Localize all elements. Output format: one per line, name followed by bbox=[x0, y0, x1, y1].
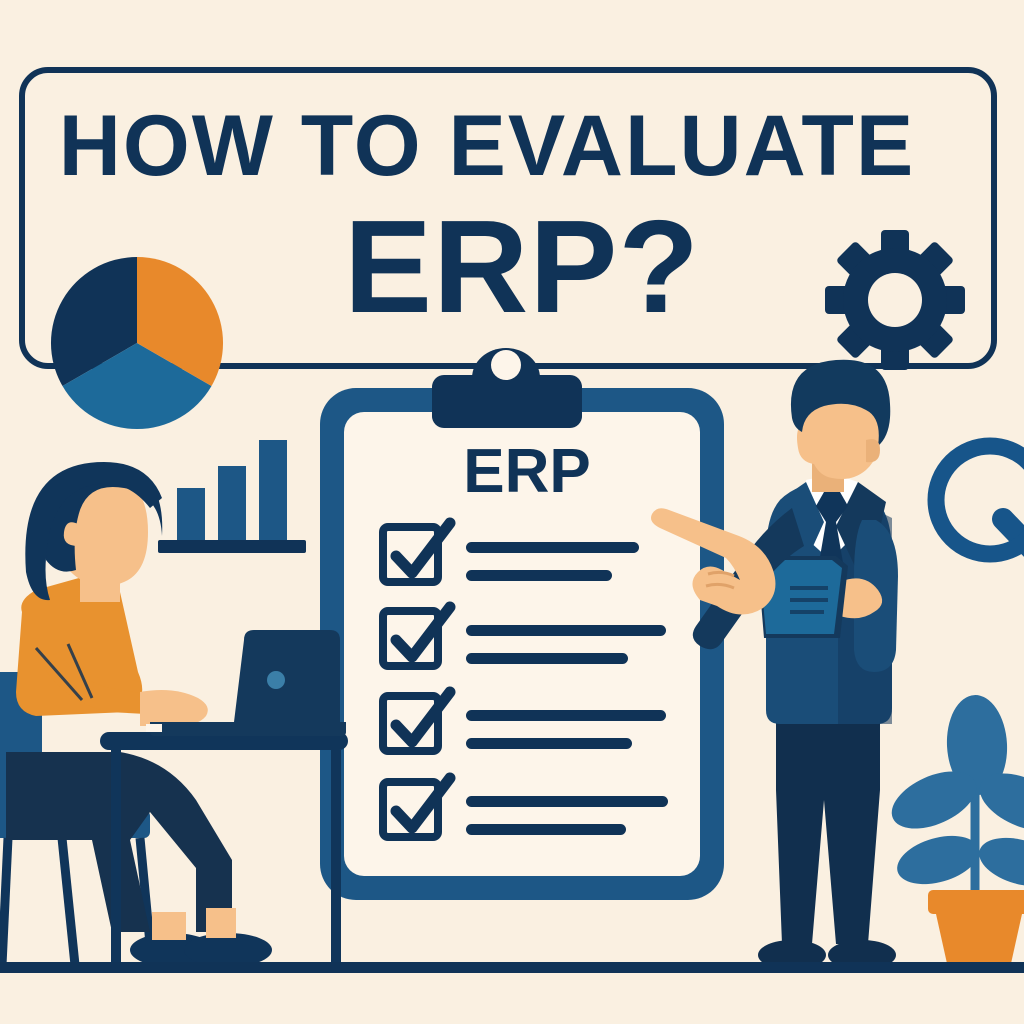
laptop-logo bbox=[267, 671, 285, 689]
checklist-line-short bbox=[466, 570, 612, 581]
laptop-base bbox=[150, 722, 346, 736]
clipboard-heading: ERP bbox=[463, 437, 590, 506]
erp-clipboard[interactable]: ERP bbox=[320, 348, 724, 900]
checklist-line-short bbox=[466, 824, 626, 835]
bar-1 bbox=[177, 488, 205, 545]
laptop-keys bbox=[146, 724, 162, 732]
woman-ankle-back bbox=[152, 912, 186, 940]
banner-title-line-1: HOW TO EVALUATE bbox=[59, 98, 916, 194]
checklist-line-long bbox=[466, 625, 666, 636]
ground-line bbox=[0, 962, 1024, 973]
bar-2 bbox=[218, 466, 246, 545]
banner-title-line-2: ERP? bbox=[344, 193, 700, 340]
bar-3 bbox=[259, 440, 287, 545]
checklist-line-short bbox=[466, 738, 632, 749]
bar-chart-baseline bbox=[158, 540, 306, 553]
woman-shoe-front bbox=[184, 933, 272, 967]
illustration-canvas: HOW TO EVALUATE ERP? bbox=[0, 0, 1024, 1024]
plant-pot-body bbox=[936, 914, 1022, 968]
checklist-line-long bbox=[466, 796, 668, 807]
plant-pot-rim bbox=[928, 890, 1024, 914]
laptop-screen bbox=[234, 630, 340, 722]
checklist-line-short bbox=[466, 653, 628, 664]
checklist-line-long bbox=[466, 710, 666, 721]
pie-chart bbox=[51, 257, 223, 429]
woman-ankle-front bbox=[206, 908, 236, 938]
checklist-line-long bbox=[466, 542, 639, 553]
